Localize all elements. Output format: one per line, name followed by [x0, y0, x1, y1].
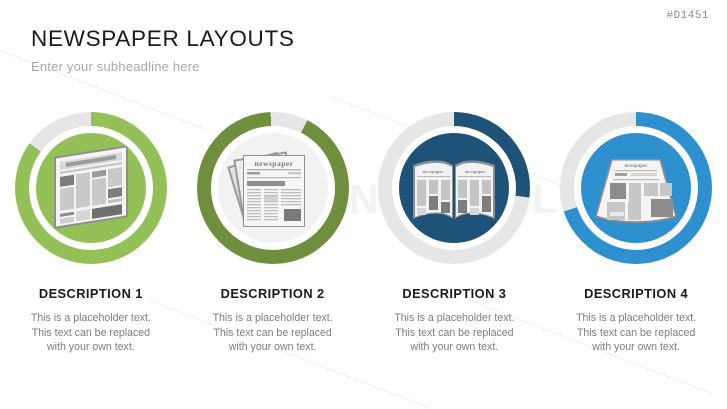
- donut-chart-4: newspaper: [560, 112, 712, 264]
- item-body-line: This text can be replaced: [11, 326, 171, 341]
- svg-text:newspaper: newspaper: [254, 159, 293, 168]
- infographic-item-4[interactable]: newspaper: [545, 112, 727, 355]
- item-body: This is a placeholder text. This text ca…: [374, 311, 534, 355]
- donut-chart-1: [15, 112, 167, 264]
- item-body-line: This is a placeholder text.: [556, 311, 716, 326]
- slide-id-label: #D1451: [666, 10, 709, 22]
- svg-text:newspaper: newspaper: [423, 169, 444, 174]
- infographic-item-1[interactable]: DESCRIPTION 1 This is a placeholder text…: [0, 112, 182, 355]
- page-title: NEWSPAPER LAYOUTS: [31, 27, 295, 52]
- newspaper-open-spread-icon: newspaper newspaper: [399, 133, 509, 243]
- item-title: DESCRIPTION 1: [39, 286, 143, 301]
- item-body: This is a placeholder text. This text ca…: [556, 311, 716, 355]
- donut-chart-2: newspaper: [197, 112, 349, 264]
- item-body-line: This is a placeholder text.: [11, 311, 171, 326]
- newspaper-spread-flat-icon: newspaper: [581, 133, 691, 243]
- item-body-line: This text can be replaced: [193, 326, 353, 341]
- item-body-line: with your own text.: [11, 340, 171, 355]
- slide-header: NEWSPAPER LAYOUTS Enter your subheadline…: [31, 27, 295, 74]
- item-title: DESCRIPTION 3: [402, 286, 506, 301]
- item-body-line: This text can be replaced: [556, 326, 716, 341]
- infographic-item-3[interactable]: newspaper newspaper: [364, 112, 546, 355]
- item-body-line: This is a placeholder text.: [374, 311, 534, 326]
- svg-text:newspaper: newspaper: [465, 169, 486, 174]
- infographic-item-2[interactable]: newspaper: [182, 112, 364, 355]
- item-body-line: with your own text.: [374, 340, 534, 355]
- newspaper-front-page-icon: [36, 133, 146, 243]
- item-body-line: This is a placeholder text.: [193, 311, 353, 326]
- item-body-line: This text can be replaced: [374, 326, 534, 341]
- item-body: This is a placeholder text. This text ca…: [193, 311, 353, 355]
- svg-text:newspaper: newspaper: [625, 164, 649, 169]
- page-subtitle[interactable]: Enter your subheadline here: [31, 59, 295, 74]
- item-title: DESCRIPTION 4: [584, 286, 688, 301]
- item-title: DESCRIPTION 2: [221, 286, 325, 301]
- infographic-columns: DESCRIPTION 1 This is a placeholder text…: [0, 112, 727, 355]
- item-body-line: with your own text.: [556, 340, 716, 355]
- donut-chart-3: newspaper newspaper: [378, 112, 530, 264]
- item-body: This is a placeholder text. This text ca…: [11, 311, 171, 355]
- item-body-line: with your own text.: [193, 340, 353, 355]
- newspaper-stack-icon: newspaper: [218, 133, 328, 243]
